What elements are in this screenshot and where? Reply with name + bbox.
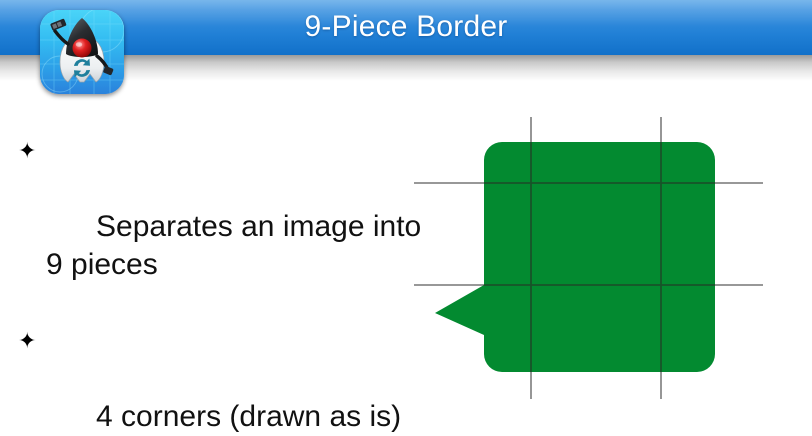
star-bullet-icon: ✦ (18, 132, 36, 170)
slide-root: 9-Piece Border (0, 0, 812, 436)
bullet-list: ✦ Separates an image into 9 pieces ✦ 4 c… (18, 132, 438, 436)
duke-java-icon (40, 10, 124, 94)
list-item: ✦ 4 corners (drawn as is) (18, 322, 438, 436)
list-item-label: Separates an image into 9 pieces (46, 210, 430, 281)
list-item-label: 4 corners (drawn as is) (96, 400, 401, 433)
star-bullet-icon: ✦ (18, 322, 36, 360)
speech-bubble-shape (435, 142, 715, 372)
nine-piece-border-diagram (400, 100, 800, 420)
list-item: ✦ Separates an image into 9 pieces (18, 132, 438, 322)
